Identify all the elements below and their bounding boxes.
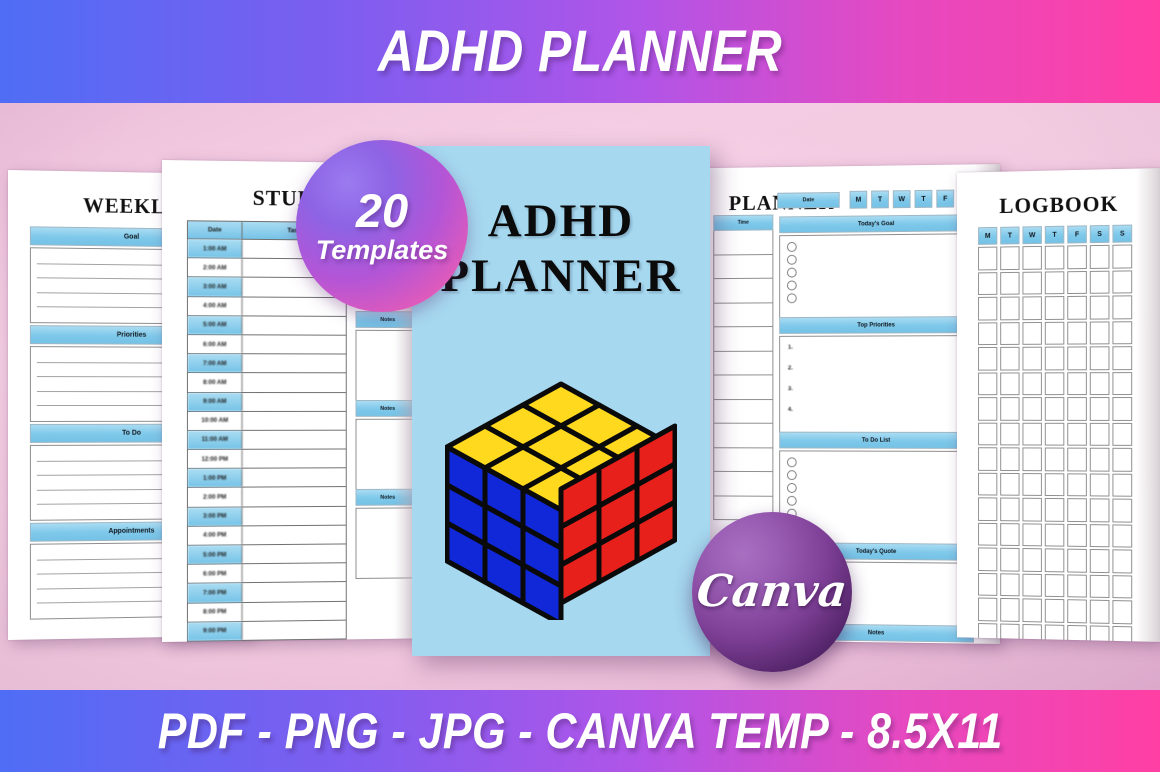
study-table-row[interactable]: 5:00 AM [188, 316, 346, 336]
templates-label: Templates [316, 236, 449, 266]
logbook-day-header: T [1045, 226, 1065, 244]
daily-day-box[interactable]: T [915, 190, 933, 208]
study-time-cell: 10:00 AM [188, 412, 243, 430]
study-table-row[interactable]: 7:00 PM [188, 582, 346, 603]
study-task-cell[interactable] [243, 431, 346, 449]
logbook-day-header: S [1112, 225, 1132, 243]
logbook-cell[interactable] [978, 547, 997, 570]
study-time-cell: 8:00 AM [188, 373, 243, 391]
logbook-cell[interactable] [1112, 625, 1132, 642]
logbook-cell[interactable] [1112, 549, 1132, 573]
logbook-cell[interactable] [978, 572, 997, 595]
logbook-cell[interactable] [978, 347, 997, 370]
logbook-cell[interactable] [1112, 575, 1132, 599]
checkbox-icon[interactable] [787, 483, 797, 493]
logbook-cell[interactable] [978, 397, 997, 420]
logbook-cell[interactable] [1067, 245, 1087, 269]
logbook-cell[interactable] [1000, 573, 1019, 596]
study-task-cell[interactable] [243, 412, 346, 430]
priority-number: 3. [788, 386, 793, 392]
study-side-box[interactable] [356, 419, 420, 490]
logbook-title: LOGBOOK [957, 190, 1160, 220]
logbook-cell[interactable] [1045, 271, 1065, 294]
logbook-cell[interactable] [1000, 322, 1019, 345]
study-table-row[interactable]: 6:00 AM [188, 335, 346, 355]
study-time-cell: 12:00 PM [188, 450, 243, 468]
study-time-cell: 2:00 AM [188, 258, 243, 277]
logbook-cell[interactable] [1090, 600, 1110, 624]
logbook-cell[interactable] [1022, 372, 1041, 395]
logbook-cell[interactable] [1067, 372, 1087, 395]
study-time-cell: 9:00 AM [188, 393, 243, 411]
daily-day-box[interactable]: M [850, 191, 868, 209]
logbook-cell[interactable] [978, 597, 997, 620]
study-table-row[interactable]: 2:00 PM [188, 488, 346, 508]
logbook-cell[interactable] [1112, 372, 1132, 395]
header-banner: ADHD PLANNER [0, 0, 1160, 103]
logbook-cell[interactable] [1045, 246, 1065, 270]
logbook-cell[interactable] [1090, 321, 1110, 344]
logbook-day-header: W [1022, 226, 1041, 244]
logbook-column: F [1067, 225, 1087, 642]
study-task-cell[interactable] [243, 373, 346, 391]
study-side-header: Notes [356, 400, 420, 417]
daily-schedule-row[interactable] [713, 448, 773, 472]
study-time-cell: 4:00 AM [188, 297, 243, 315]
study-side-box[interactable] [356, 507, 420, 579]
logbook-cell[interactable] [1000, 246, 1019, 269]
logbook-cell[interactable] [1090, 448, 1110, 471]
logbook-cell[interactable] [1112, 448, 1132, 472]
logbook-cell[interactable] [1022, 548, 1041, 571]
checkbox-icon[interactable] [787, 268, 797, 278]
study-side-section: Notes [356, 400, 420, 490]
study-time-cell: 6:00 AM [188, 335, 243, 353]
logbook-cell[interactable] [1067, 549, 1087, 573]
daily-schedule-row[interactable] [713, 254, 773, 279]
checkbox-icon[interactable] [787, 457, 797, 467]
logbook-cell[interactable] [1067, 397, 1087, 420]
study-time-cell: 11:00 AM [188, 431, 243, 449]
daily-schedule-row[interactable] [713, 327, 773, 351]
footer-formats: PDF - PNG - JPG - CANVA TEMP - 8.5X11 [157, 706, 1002, 756]
logbook-column: T [1000, 227, 1019, 642]
logbook-cell[interactable] [1045, 397, 1065, 420]
logbook-cell[interactable] [1000, 271, 1019, 294]
logbook-cell[interactable] [1067, 448, 1087, 471]
study-task-cell[interactable] [243, 297, 346, 316]
study-side-header: Notes [356, 489, 420, 506]
daily-day-box[interactable]: T [871, 190, 889, 208]
study-task-cell[interactable] [243, 335, 346, 353]
canva-badge: Canva [692, 512, 852, 672]
logbook-tracker-grid: MTWTFSS [978, 225, 1132, 642]
study-task-cell[interactable] [243, 488, 346, 507]
daily-schedule-header: Time [713, 215, 773, 231]
logbook-cell[interactable] [1067, 422, 1087, 445]
logbook-cell[interactable] [978, 247, 997, 270]
daily-schedule-row[interactable] [713, 375, 773, 399]
logbook-column: S [1112, 225, 1132, 642]
study-task-cell[interactable] [243, 601, 346, 620]
study-table-row[interactable]: 11:00 AM [188, 431, 346, 450]
study-time-cell: 7:00 PM [188, 584, 243, 603]
logbook-cell[interactable] [978, 422, 997, 445]
logbook-cell[interactable] [978, 272, 997, 295]
logbook-cell[interactable] [1022, 422, 1041, 445]
logbook-cell[interactable] [1090, 270, 1110, 294]
logbook-cell[interactable] [1112, 422, 1132, 445]
logbook-cell[interactable] [978, 372, 997, 395]
study-task-cell[interactable] [243, 469, 346, 488]
logbook-cell[interactable] [1045, 548, 1065, 572]
logbook-content: LOGBOOK MTWTFSS [957, 168, 1160, 642]
study-side-header: Notes [356, 311, 420, 328]
daily-schedule-row[interactable] [713, 400, 773, 424]
daily-schedule-row[interactable] [713, 424, 773, 448]
logbook-cell[interactable] [1045, 296, 1065, 319]
logbook-cell[interactable] [1067, 321, 1087, 344]
logbook-day-header: F [1067, 225, 1087, 243]
logbook-column: W [1022, 226, 1041, 642]
daily-section: Today's Goal [779, 214, 974, 318]
study-table-row[interactable]: 4:00 AM [188, 297, 346, 317]
daily-date-field[interactable]: Date [777, 192, 839, 209]
logbook-cell[interactable] [1112, 397, 1132, 420]
logbook-cell[interactable] [1090, 498, 1110, 522]
checkbox-icon[interactable] [787, 470, 797, 480]
logbook-cell[interactable] [1112, 499, 1132, 523]
templates-count: 20 [356, 187, 408, 234]
logbook-cell[interactable] [1000, 472, 1019, 495]
daily-day-box[interactable]: F [936, 190, 954, 208]
logbook-cell[interactable] [1045, 347, 1065, 370]
logbook-cell[interactable] [1045, 498, 1065, 521]
logbook-cell[interactable] [1022, 447, 1041, 470]
logbook-cell[interactable] [1000, 598, 1019, 622]
logbook-cell[interactable] [1022, 347, 1041, 370]
logbook-cell[interactable] [978, 297, 997, 320]
logbook-cell[interactable] [1090, 422, 1110, 445]
study-time-cell: 2:00 PM [188, 488, 243, 506]
logbook-cell[interactable] [1112, 346, 1132, 370]
logbook-cell[interactable] [978, 522, 997, 545]
page-logbook[interactable]: LOGBOOK MTWTFSS [957, 168, 1160, 642]
daily-schedule-column: Time [713, 215, 773, 521]
study-time-cell: 6:00 PM [188, 564, 243, 583]
header-title: ADHD PLANNER [378, 23, 782, 81]
daily-section: Top Priorities1.2.3.4. [779, 316, 974, 433]
logbook-cell[interactable] [1090, 372, 1110, 395]
logbook-cell[interactable] [1045, 321, 1065, 344]
study-table-row[interactable]: 4:00 PM [188, 525, 346, 545]
study-task-cell[interactable] [243, 563, 346, 582]
daily-section-box[interactable] [779, 233, 974, 318]
study-table-row[interactable]: 6:00 PM [188, 563, 346, 584]
priority-number: 2. [788, 365, 793, 371]
checkbox-icon[interactable] [787, 255, 797, 265]
study-task-cell[interactable] [243, 544, 346, 563]
study-table-row[interactable]: 7:00 AM [188, 354, 346, 373]
study-task-cell[interactable] [243, 620, 346, 639]
study-table-row[interactable]: 8:00 PM [188, 601, 346, 622]
logbook-cell[interactable] [1000, 422, 1019, 445]
product-mockup: WEEKLY GoalPrioritiesTo DoAppointments S… [0, 0, 1160, 772]
study-side-box[interactable] [356, 330, 420, 401]
logbook-cell[interactable] [1067, 473, 1087, 496]
logbook-cell[interactable] [1000, 347, 1019, 370]
study-time-cell: 9:00 PM [188, 622, 243, 641]
daily-schedule-row[interactable] [713, 472, 773, 496]
study-time-cell: 1:00 AM [188, 239, 243, 258]
checkbox-icon[interactable] [787, 496, 797, 506]
study-table-row[interactable]: 1:00 PM [188, 469, 346, 489]
logbook-cell[interactable] [1067, 346, 1087, 369]
logbook-column: T [1045, 226, 1065, 642]
study-table-row[interactable]: 8:00 AM [188, 373, 346, 392]
daily-day-box[interactable]: W [893, 190, 911, 208]
checkbox-icon[interactable] [787, 242, 797, 252]
logbook-column: M [978, 227, 997, 642]
study-time-cell: 3:00 AM [188, 278, 243, 296]
study-time-cell: 7:00 AM [188, 354, 243, 372]
logbook-column: S [1090, 225, 1110, 642]
logbook-day-header: T [1000, 227, 1019, 245]
logbook-cell[interactable] [1067, 624, 1087, 642]
logbook-cell[interactable] [978, 472, 997, 495]
study-time-cell: 3:00 PM [188, 507, 243, 525]
logbook-cell[interactable] [1000, 297, 1019, 320]
logbook-cell[interactable] [978, 497, 997, 520]
study-side-section: Notes [356, 311, 420, 401]
study-time-cell: 8:00 PM [188, 603, 243, 622]
canva-label: Canva [695, 570, 849, 614]
priority-number: 4. [788, 407, 793, 413]
study-table-row[interactable]: 5:00 PM [188, 544, 346, 564]
study-task-cell[interactable] [243, 582, 346, 601]
study-table-row[interactable]: 12:00 PM [188, 450, 346, 470]
logbook-cell[interactable] [1022, 523, 1041, 546]
logbook-cell[interactable] [978, 447, 997, 470]
logbook-cell[interactable] [1000, 397, 1019, 420]
logbook-cell[interactable] [1045, 624, 1065, 642]
logbook-cell[interactable] [1090, 574, 1110, 598]
study-column-header: Date [188, 221, 243, 238]
logbook-cell[interactable] [1000, 498, 1019, 521]
study-table-row[interactable]: 9:00 AM [188, 393, 346, 412]
study-table-row[interactable]: 3:00 PM [188, 506, 346, 526]
logbook-cell[interactable] [1090, 473, 1110, 497]
logbook-cell[interactable] [1112, 524, 1132, 548]
rubiks-cube-svg [445, 370, 677, 620]
daily-section-header: Top Priorities [779, 316, 974, 334]
study-task-cell[interactable] [243, 450, 346, 468]
logbook-cell[interactable] [1022, 296, 1041, 319]
logbook-cell[interactable] [1000, 447, 1019, 470]
checkbox-icon[interactable] [787, 280, 797, 290]
logbook-cell[interactable] [1022, 473, 1041, 496]
logbook-cell[interactable] [1090, 346, 1110, 369]
logbook-cell[interactable] [1067, 270, 1087, 294]
logbook-cell[interactable] [1090, 549, 1110, 573]
logbook-day-header: S [1090, 225, 1110, 243]
logbook-cell[interactable] [1000, 548, 1019, 571]
logbook-cell[interactable] [1090, 296, 1110, 320]
daily-section-header: To Do List [779, 432, 974, 449]
daily-schedule-row[interactable] [713, 230, 773, 255]
logbook-cell[interactable] [1112, 600, 1132, 624]
study-task-cell[interactable] [243, 316, 346, 335]
rubiks-cube-icon [445, 370, 677, 625]
logbook-cell[interactable] [1090, 245, 1110, 269]
logbook-cell[interactable] [1112, 295, 1132, 319]
logbook-cell[interactable] [1022, 321, 1041, 344]
daily-schedule-row[interactable] [713, 279, 773, 304]
logbook-cell[interactable] [1045, 574, 1065, 598]
study-task-cell[interactable] [243, 393, 346, 411]
logbook-cell[interactable] [1067, 599, 1087, 623]
logbook-cell[interactable] [1045, 473, 1065, 496]
logbook-cell[interactable] [1090, 625, 1110, 642]
study-time-cell: 4:00 PM [188, 526, 243, 545]
templates-count-badge: 20 Templates [296, 140, 468, 312]
checkbox-icon[interactable] [787, 293, 797, 303]
study-time-cell: 1:00 PM [188, 469, 243, 487]
logbook-cell[interactable] [1090, 397, 1110, 420]
logbook-cell[interactable] [1067, 498, 1087, 522]
study-table-row[interactable]: 9:00 PM [188, 620, 346, 641]
daily-section-box[interactable]: 1.2.3.4. [779, 335, 974, 433]
study-task-cell[interactable] [243, 525, 346, 544]
logbook-cell[interactable] [1022, 598, 1041, 622]
logbook-cell[interactable] [1045, 523, 1065, 547]
logbook-cell[interactable] [1000, 523, 1019, 546]
logbook-day-header: M [978, 227, 997, 245]
study-task-cell[interactable] [243, 506, 346, 525]
logbook-cell[interactable] [978, 322, 997, 345]
logbook-cell[interactable] [1045, 599, 1065, 623]
logbook-cell[interactable] [1112, 270, 1132, 294]
logbook-cell[interactable] [1000, 372, 1019, 395]
footer-banner: PDF - PNG - JPG - CANVA TEMP - 8.5X11 [0, 690, 1160, 772]
logbook-cell[interactable] [1090, 524, 1110, 548]
daily-schedule-row[interactable] [713, 351, 773, 375]
logbook-cell[interactable] [1067, 523, 1087, 547]
logbook-cell[interactable] [1022, 246, 1041, 269]
logbook-cell[interactable] [1112, 244, 1132, 268]
study-table-row[interactable]: 10:00 AM [188, 412, 346, 431]
logbook-cell[interactable] [1045, 372, 1065, 395]
logbook-cell[interactable] [1112, 473, 1132, 497]
logbook-cell[interactable] [1022, 397, 1041, 420]
logbook-cell[interactable] [1045, 422, 1065, 445]
priority-number: 1. [788, 345, 793, 351]
study-time-cell: 5:00 AM [188, 316, 243, 334]
logbook-cell[interactable] [1067, 296, 1087, 319]
logbook-cell[interactable] [1022, 498, 1041, 521]
study-time-cell: 5:00 PM [188, 545, 243, 564]
logbook-cell[interactable] [1112, 321, 1132, 345]
logbook-cell[interactable] [1067, 574, 1087, 598]
logbook-cell[interactable] [1022, 573, 1041, 597]
daily-section-header: Today's Goal [779, 214, 974, 233]
logbook-cell[interactable] [1022, 271, 1041, 294]
study-side-section: Notes [356, 489, 420, 579]
study-task-cell[interactable] [243, 354, 346, 372]
daily-schedule-row[interactable] [713, 303, 773, 327]
logbook-cell[interactable] [1045, 448, 1065, 471]
